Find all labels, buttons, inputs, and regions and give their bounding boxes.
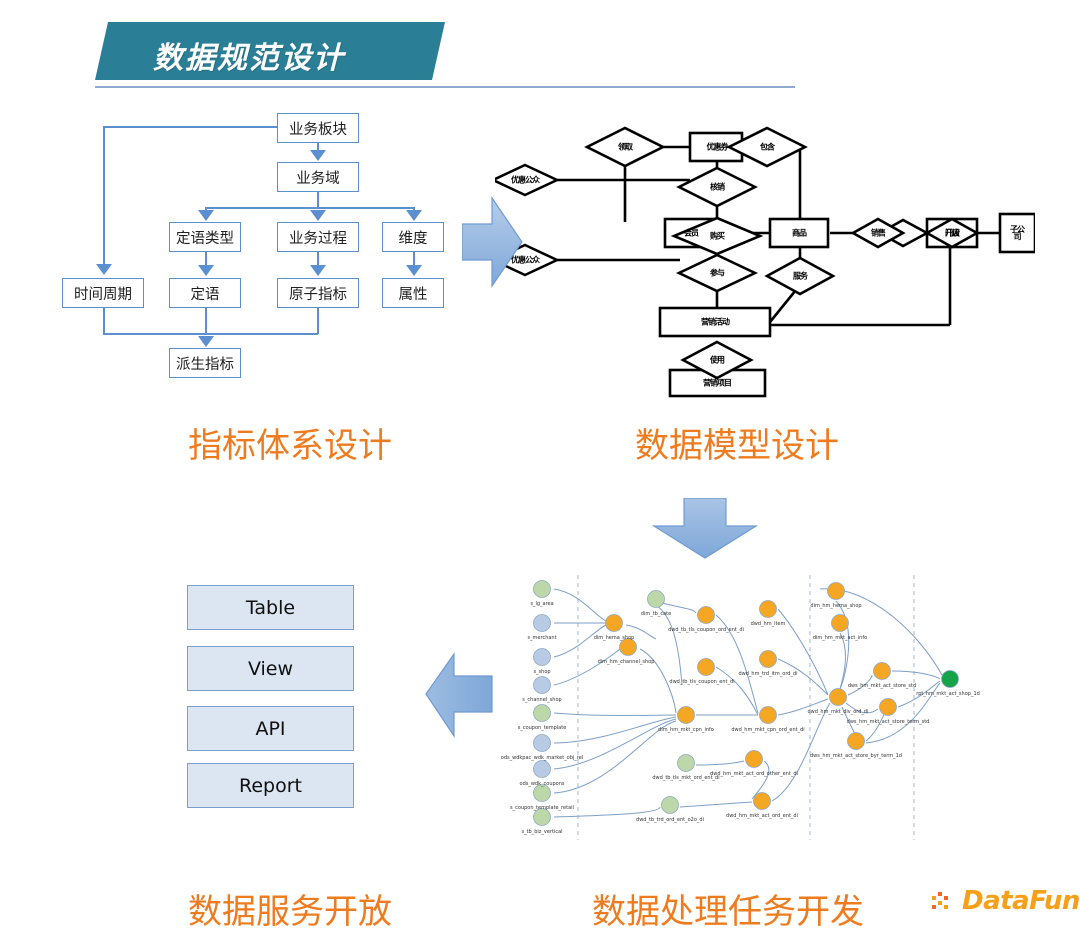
lineage-node-label: dwd_tb_trd_ord_ent_o2o_di (636, 817, 704, 823)
lineage-node[interactable] (534, 785, 551, 802)
er-relation-get[interactable]: 领取 (614, 144, 636, 151)
service-box-report[interactable]: Report (187, 763, 354, 808)
lineage-node[interactable] (534, 615, 551, 632)
lineage-node[interactable] (830, 689, 847, 706)
lineage-node[interactable] (698, 607, 715, 624)
lineage-node-label: dwd_tb_tls_coupon_ord_ent_di (668, 627, 744, 633)
header-banner: 数据规范设计 (95, 22, 895, 80)
lineage-node[interactable] (620, 639, 637, 656)
lineage-node[interactable] (760, 651, 777, 668)
lineage-node-label: rpt_hm_mkt_act_shop_1d (916, 691, 980, 697)
metric-edge (103, 126, 277, 128)
lineage-node[interactable] (606, 615, 623, 632)
metric-arrowhead (406, 210, 422, 221)
lineage-node-label: dwd_tb_tls_coupon_ent_di (669, 679, 734, 685)
metric-node-biz-domain[interactable]: 业务域 (277, 162, 359, 192)
lineage-node-label: dim_hm_mkt_cpn_info (658, 727, 714, 733)
caption-data-service: 数据服务开放 (188, 884, 392, 933)
lineage-node-label: s_channel_shop (522, 697, 561, 703)
lineage-node-label: ods_wdk_coupons (520, 781, 565, 787)
er-entity-activity[interactable]: 营销活动 (665, 319, 765, 326)
lineage-node[interactable] (678, 707, 695, 724)
er-diamond-coupon-1[interactable]: 优惠公众 (508, 177, 542, 184)
er-entity-subsidiary[interactable]: 子公司 (1008, 226, 1026, 240)
metric-node-derived-metric[interactable]: 派生指标 (169, 348, 241, 378)
er-relation-apply[interactable]: 核销 (706, 184, 728, 191)
lineage-node[interactable] (760, 601, 777, 618)
lineage-node[interactable] (662, 797, 679, 814)
lineage-node[interactable] (832, 615, 849, 632)
lineage-node-label: s_lg_area (530, 601, 553, 607)
lineage-node-label: dim_tb_cate (641, 611, 671, 617)
lineage-node[interactable] (746, 751, 763, 768)
lineage-node-label: s_coupon_template_retail (510, 805, 574, 811)
metric-arrowhead (310, 210, 326, 221)
lineage-node-label: dwd_hm_mkt_cpn_ord_ent_di (731, 727, 804, 733)
er-entity-coupon[interactable]: 优惠券 (693, 144, 741, 151)
lineage-graph: s_lg_areas_merchants_shops_channel_shops… (510, 575, 980, 840)
er-relation-use[interactable]: 使用 (706, 357, 728, 364)
lineage-node-label: dwd_hm_mkt_div_ord_di (808, 709, 869, 715)
metric-edge (103, 333, 318, 335)
metric-node-atomic-metric[interactable]: 原子指标 (277, 278, 359, 308)
lineage-node[interactable] (754, 793, 771, 810)
metric-node-dimension[interactable]: 维度 (382, 222, 444, 252)
metric-node-modifier-type[interactable]: 定语类型 (169, 222, 241, 252)
caption-data-model: 数据模型设计 (635, 418, 839, 467)
metric-edge (205, 252, 207, 266)
lineage-node-label: s_shop (533, 669, 550, 675)
arrow-down-to-tasks (652, 498, 758, 565)
lineage-node-label: dws_hm_mkt_act_store_std (848, 683, 916, 689)
logo-text: DataFun. (962, 886, 1080, 916)
metric-arrowhead (310, 150, 326, 161)
lineage-node[interactable] (880, 699, 897, 716)
metric-edge (317, 192, 319, 208)
caption-data-task: 数据处理任务开发 (592, 884, 864, 933)
lineage-node[interactable] (942, 671, 959, 688)
metric-arrowhead (198, 265, 214, 276)
lineage-node-label: dwd_hm_mkt_act_ord_other_ent_di (710, 771, 798, 777)
metric-edge (205, 308, 207, 334)
metric-edge (103, 126, 105, 264)
logo-dots-icon (932, 892, 958, 914)
lineage-node[interactable] (760, 707, 777, 724)
metric-node-time-cycle[interactable]: 时间周期 (62, 278, 144, 308)
er-relation-serve[interactable]: 服务 (789, 273, 811, 280)
lineage-node[interactable] (534, 705, 551, 722)
lineage-node[interactable] (534, 761, 551, 778)
lineage-node[interactable] (678, 755, 695, 772)
er-relation-join[interactable]: 参与 (706, 270, 728, 277)
service-box-view[interactable]: View (187, 646, 354, 691)
lineage-node-label: dim_hm_mkt_act_info (813, 635, 867, 641)
metric-arrowhead (198, 210, 214, 221)
lineage-node-label: dim_hema_shop (594, 635, 635, 641)
lineage-node[interactable] (848, 733, 865, 750)
lineage-node[interactable] (828, 583, 845, 600)
slide-root: 数据规范设计 业务板块 业务域 定语类型 业务过程 维度 时间周期 定语 原子指… (0, 0, 1080, 938)
metric-node-attribute[interactable]: 属性 (382, 278, 444, 308)
metric-arrowhead (96, 264, 112, 275)
lineage-node-label: s_coupon_template (518, 725, 567, 731)
metric-arrowhead (310, 265, 326, 276)
lineage-node[interactable] (534, 677, 551, 694)
lineage-node[interactable] (534, 809, 551, 826)
lineage-node[interactable] (648, 591, 665, 608)
er-relation-open[interactable]: 开设 (941, 230, 963, 237)
lineage-node-label: dws_hm_mkt_act_store_term_std (847, 719, 930, 725)
lineage-node-label: dws_hm_mkt_act_store_byr_term_1d (810, 753, 902, 759)
metric-edge (205, 207, 413, 209)
lineage-node-label: ods_wdkpac_wdk_market_obj_rel (501, 755, 583, 761)
arrow-right-to-model (462, 196, 524, 293)
er-diagram: 优惠券 领取 包含 核销 会员 购买 商品 参与 服务 销售 门店 开设 子公司… (495, 100, 1035, 400)
lineage-node[interactable] (534, 649, 551, 666)
lineage-node-label: dwd_hm_mkt_act_ord_ent_di (726, 813, 798, 819)
er-relation-sell[interactable]: 销售 (867, 230, 889, 237)
service-box-api[interactable]: API (187, 706, 354, 751)
metric-edge (413, 252, 415, 266)
lineage-node-label: dwd_hm_item (751, 621, 786, 627)
arrow-left-to-services (424, 652, 496, 743)
metric-node-biz-sector[interactable]: 业务板块 (277, 113, 359, 143)
lineage-node-label: s_merchant (527, 635, 556, 641)
lineage-node[interactable] (698, 659, 715, 676)
er-entity-goods[interactable]: 商品 (773, 230, 825, 237)
metric-node-modifier[interactable]: 定语 (169, 278, 241, 308)
metric-edge (317, 252, 319, 266)
header-rule (95, 86, 795, 88)
lineage-node[interactable] (534, 581, 551, 598)
metric-arrowhead (406, 265, 422, 276)
metric-node-biz-process[interactable]: 业务过程 (277, 222, 359, 252)
lineage-node-label: dim_hm_hema_shop (810, 603, 861, 609)
metric-edge (317, 308, 319, 334)
lineage-node-label: dim_hm_channel_shop (598, 659, 655, 665)
er-relation-buy[interactable]: 购买 (706, 233, 728, 240)
caption-metric-system: 指标体系设计 (188, 418, 392, 467)
page-title: 数据规范设计 (153, 33, 345, 77)
lineage-node-label: dwd_hm_trd_itm_ord_di (738, 671, 797, 677)
lineage-node[interactable] (534, 735, 551, 752)
lineage-node-label: s_tb_biz_vertical (521, 829, 562, 835)
er-entity-project[interactable]: 营销项目 (672, 380, 762, 387)
service-box-table[interactable]: Table (187, 585, 354, 630)
lineage-node[interactable] (874, 663, 891, 680)
metric-edge (103, 308, 105, 334)
datafun-logo: DataFun. (932, 886, 1072, 922)
er-relation-hold[interactable]: 包含 (756, 144, 778, 151)
metric-arrowhead (198, 336, 214, 347)
